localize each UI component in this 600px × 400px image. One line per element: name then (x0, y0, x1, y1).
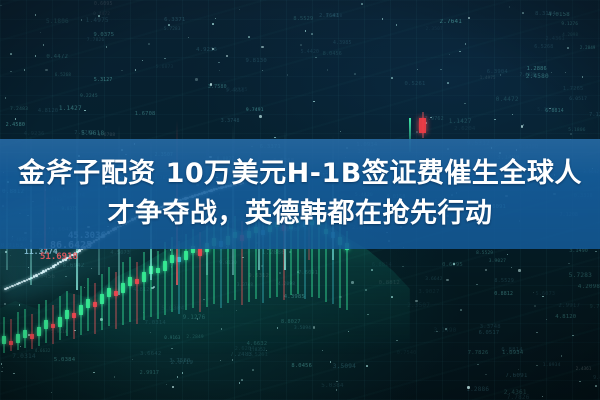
glow-dot (239, 382, 241, 384)
glow-dot (485, 374, 487, 376)
ticker-value: 5.4420 (301, 50, 320, 55)
ticker-value: 6.5268 (55, 72, 71, 77)
glow-dot (195, 78, 198, 81)
ticker-value: 5.7283 (164, 27, 181, 32)
glow-dot (391, 77, 393, 79)
glow-dot (396, 24, 398, 26)
ticker-value: 4.3985 (333, 41, 352, 46)
glow-dot (366, 365, 368, 367)
ticker-value: 9.8130 (246, 58, 267, 64)
glow-dot (518, 369, 520, 371)
glow-dot (595, 251, 597, 253)
glow-dot (354, 73, 356, 75)
glow-dot (518, 269, 521, 272)
ticker-value: 0.8812 (494, 291, 513, 297)
ticker-value: 9.8130 (593, 375, 600, 381)
ticker-value: 6.3371 (164, 17, 185, 23)
ticker-value: 6.8814 (545, 109, 564, 114)
ticker-value: 9.1276 (561, 22, 578, 27)
headline-line-1: 金斧子配资 10万美元H-1B签证费催生全球人 (18, 154, 582, 194)
ticker-value: 9.7491 (590, 304, 600, 310)
ticker-value: 2.4580 (526, 73, 549, 80)
glow-dot (568, 263, 570, 265)
ticker-value: 0.4472 (496, 96, 519, 103)
glow-dot (305, 30, 307, 32)
ticker-value: 1.2886 (466, 386, 489, 393)
ticker-value: 6.3904 (487, 69, 508, 75)
glow-dot (336, 389, 338, 391)
ticker-value: 0.4472 (46, 54, 68, 60)
ticker-value: 8.5529 (494, 278, 514, 284)
glow-dot (182, 372, 184, 374)
ticker-value: 4.0158 (548, 12, 570, 18)
ticker-value: 1.4975 (86, 17, 109, 24)
glow-dot (572, 335, 574, 337)
ticker-value: 0.5261 (405, 81, 426, 87)
glow-dot (549, 108, 551, 110)
headline-banner: 金斧子配资 10万美元H-1B签证费催生全球人 才争夺战，英德韩都在抢先行动 (0, 139, 600, 249)
ticker-value: 2.9917 (558, 303, 580, 309)
ticker-value: 4.9236 (196, 47, 217, 53)
glow-dot (467, 386, 470, 389)
ticker-value: 9.0375 (94, 32, 115, 38)
ticker-value: 1.7265 (563, 86, 584, 92)
glow-dot (121, 70, 123, 72)
glow-dot (252, 369, 254, 371)
glow-dot (300, 44, 302, 46)
glow-dot (168, 24, 170, 26)
ticker-value: 5.6073 (156, 65, 174, 70)
headline-line-2: 才争夺战，英德韩都在抢先行动 (108, 194, 493, 234)
glow-dot (43, 44, 45, 46)
quote-number: 51.6918 (40, 252, 78, 262)
ticker-value: 8.0456 (291, 363, 312, 369)
ticker-value: 3.9027 (489, 259, 506, 264)
ticker-value: 8.0456 (323, 51, 342, 57)
ticker-value: 9.4650 (226, 88, 245, 94)
glow-dot (212, 23, 214, 25)
glow-dot (336, 381, 338, 383)
glow-dot (13, 373, 15, 375)
glow-dot (522, 12, 524, 14)
ticker-value: 6.5268 (534, 44, 553, 50)
ticker-value: 2.3507 (426, 27, 443, 32)
ticker-value: 4.2098 (578, 284, 600, 290)
ticker-value: 4.8120 (555, 314, 576, 320)
ticker-value: 1.2886 (527, 66, 547, 72)
glow-dot (567, 47, 569, 49)
glow-dot (148, 43, 150, 45)
ticker-value: 7.7826 (468, 350, 489, 356)
ticker-value: 5.3127 (94, 78, 113, 83)
glow-dot (1, 371, 3, 373)
ticker-value: 0.6095 (94, 2, 113, 7)
isolated-down-candle (419, 112, 426, 138)
glow-dot (164, 58, 166, 60)
glow-dot (361, 3, 363, 5)
ticker-value: 4.2098 (562, 32, 578, 37)
ticker-value: 2.2849 (580, 45, 596, 50)
glow-dot (476, 284, 478, 286)
glow-dot (287, 74, 289, 76)
glow-dot (93, 372, 95, 374)
glow-dot (45, 69, 48, 72)
glow-dot (459, 51, 461, 53)
glow-dot (248, 36, 250, 38)
glow-dot (232, 359, 234, 361)
glow-dot (10, 53, 12, 55)
glow-dot (542, 296, 544, 298)
ticker-value: 3.3748 (480, 324, 501, 330)
ticker-value: 5.6073 (536, 291, 556, 297)
glow-dot (465, 43, 467, 45)
glow-dot (500, 74, 502, 76)
ticker-value: 6.0517 (569, 97, 587, 102)
ticker-value: 1.0934 (543, 363, 561, 368)
ticker-value: 2.7641 (440, 19, 462, 25)
ticker-value: 5.7283 (569, 272, 592, 279)
glow-dot (536, 365, 538, 367)
glow-dot (534, 305, 536, 307)
ticker-value: 6.0517 (479, 330, 500, 336)
ticker-value: 6.8814 (501, 347, 522, 353)
glow-dot (177, 376, 179, 378)
glow-dot (98, 15, 100, 17)
ticker-value: 7.7826 (87, 38, 105, 43)
glow-dot (135, 69, 137, 71)
ticker-value: 0.4472 (93, 12, 110, 17)
ticker-value: 3.7580 (169, 358, 190, 364)
glow-dot (311, 33, 313, 35)
ticker-value: 2.7641 (319, 13, 339, 19)
glow-dot (440, 69, 442, 71)
ticker-value: 8.5529 (293, 16, 313, 22)
ticker-value: 8.5529 (476, 251, 493, 256)
glow-dot (494, 119, 496, 121)
ticker-value: 5.1806 (568, 128, 585, 133)
ticker-value: 7.7826 (507, 394, 530, 400)
article-thumbnail: 2.43617.78260.88123.14905.60739.22451.09… (0, 0, 600, 400)
glow-dot (595, 385, 597, 387)
glow-dot (570, 133, 572, 135)
glow-dot (447, 82, 449, 84)
ticker-value: 3.5094 (333, 363, 356, 370)
ticker-value: 5.0384 (321, 383, 343, 389)
glow-dot (241, 379, 243, 381)
ticker-value: 7.6091 (505, 373, 527, 379)
ticker-value: 7.1208 (589, 112, 600, 118)
ticker-value: 2.4361 (576, 366, 592, 371)
ticker-value: 5.1806 (46, 18, 69, 25)
glow-dot (218, 62, 220, 64)
ticker-value: 2.9917 (140, 370, 160, 376)
glow-dot (382, 18, 384, 20)
glow-dot (210, 83, 213, 86)
ticker-value: 5.0384 (54, 357, 75, 363)
ticker-value: 1.4975 (480, 75, 496, 80)
glow-dot (24, 69, 26, 71)
